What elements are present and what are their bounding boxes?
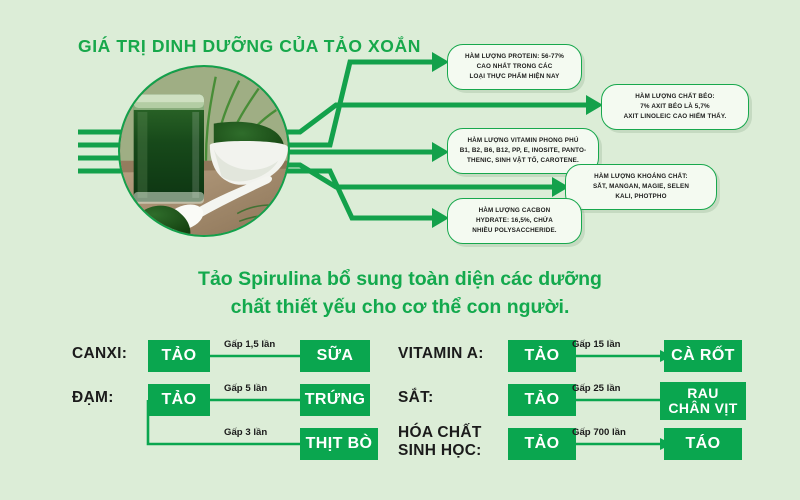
comparison-multiplier-canxi: Gấp 1,5 lần [224,339,275,350]
comparison-multiplier-dam: Gấp 5 lần [224,383,267,394]
comparison-source-vitamin-a[interactable]: TẢO [508,340,576,372]
comparison-target-trung[interactable]: TRỨNG [300,384,370,416]
callout-fat-text: HÀM LƯỢNG CHẤT BÉO: 7% AXIT BÉO LÀ 5,7% … [624,92,727,123]
spirulina-photo [118,65,290,237]
callout-vitamin-text: HÀM LƯỢNG VITAMIN PHONG PHÚ B1, B2, B6, … [460,136,587,167]
callout-protein-text: HÀM LƯỢNG PROTEIN: 56-77% CAO NHẤT TRONG… [465,52,564,83]
spirulina-photo-art [120,67,288,235]
infographic-canvas: GIÁ TRỊ DINH DƯỠNG CỦA TẢO XOẮN [0,0,800,500]
comparison-multiplier-vitamin-a: Gấp 15 lần [572,339,621,350]
comparison-source-dam[interactable]: TẢO [148,384,210,416]
comparison-label-vitamin-a: VITAMIN A: [398,345,484,363]
callout-carbohydrate-text: HÀM LƯỢNG CACBON HYDRATE: 16,5%, CHỨA NH… [472,206,556,237]
comparison-label-dam: ĐẠM: [72,389,114,407]
comparison-label-hoa-chat-sinh-hoc: HÓA CHẤT SINH HỌC: [398,424,482,460]
comparison-multiplier-sat: Gấp 25 lần [572,383,621,394]
comparison-label-sat: SẮT: [398,389,434,407]
comparison-source-hoa-chat[interactable]: TẢO [508,428,576,460]
callout-mineral: HÀM LƯỢNG KHOÁNG CHẤT: SẮT, MANGAN, MAGI… [565,164,717,210]
comparison-source-canxi[interactable]: TẢO [148,340,210,372]
callout-fat: HÀM LƯỢNG CHẤT BÉO: 7% AXIT BÉO LÀ 5,7% … [601,84,749,130]
callout-carbohydrate: HÀM LƯỢNG CACBON HYDRATE: 16,5%, CHỨA NH… [447,198,582,244]
comparison-target-sua[interactable]: SỮA [300,340,370,372]
comparison-section: CANXI: TẢO Gấp 1,5 lần SỮA ĐẠM: TẢO Gấp … [0,326,800,500]
comparison-source-sat[interactable]: TẢO [508,384,576,416]
comparison-target-tao-apple[interactable]: TÁO [664,428,742,460]
comparison-target-carot[interactable]: CÀ RỐT [664,340,742,372]
comparison-multiplier-thitbo: Gấp 3 lần [224,427,267,438]
comparison-target-thitbo[interactable]: THỊT BÒ [300,428,378,460]
comparison-target-rau-chan-vit[interactable]: RAU CHÂN VỊT [660,382,746,420]
callout-mineral-text: HÀM LƯỢNG KHOÁNG CHẤT: SẮT, MANGAN, MAGI… [593,172,689,203]
comparison-label-canxi: CANXI: [72,345,127,363]
callout-protein: HÀM LƯỢNG PROTEIN: 56-77% CAO NHẤT TRONG… [447,44,582,90]
comparison-multiplier-hoa-chat: Gấp 700 lần [572,427,626,438]
